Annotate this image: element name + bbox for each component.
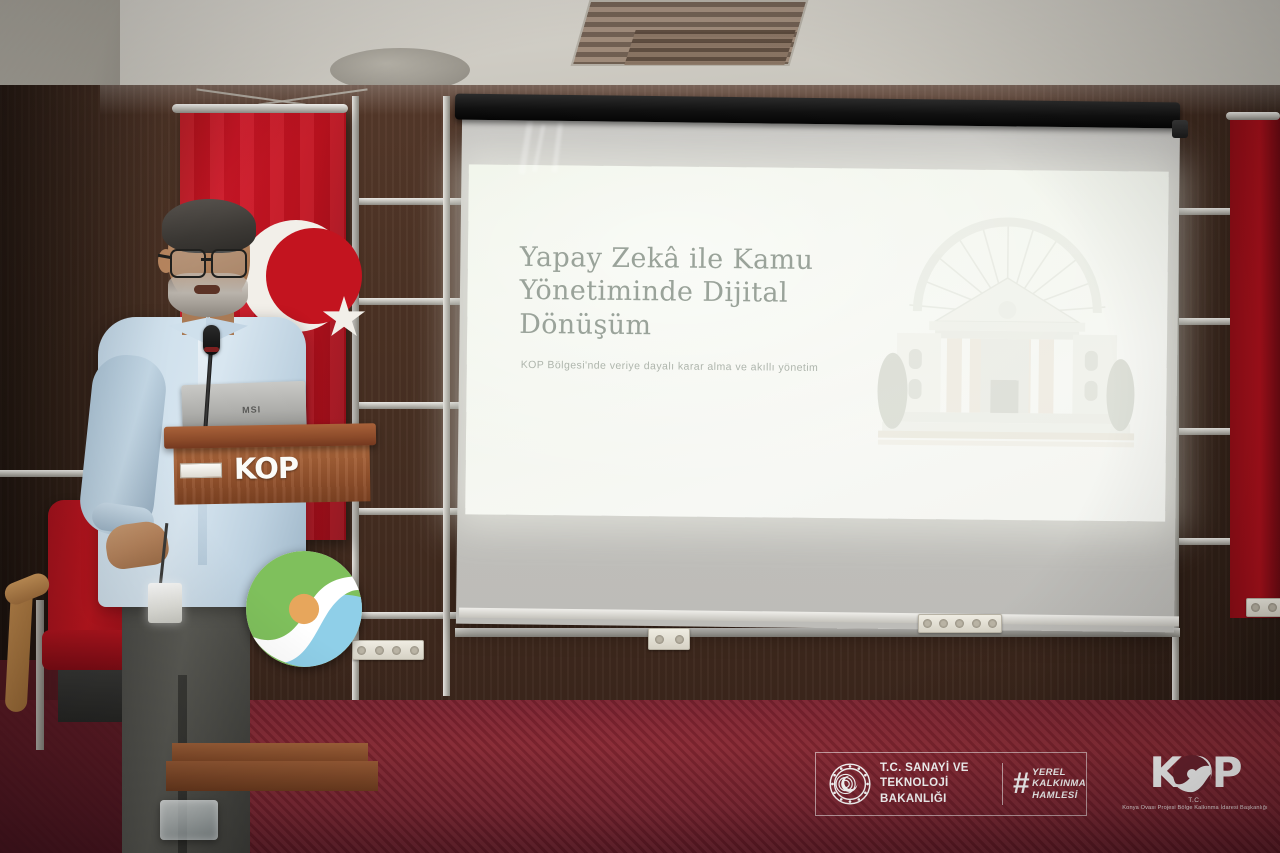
socket-icon [988,619,997,628]
wall-trim-vertical [443,96,450,696]
kop-tc-label: T.C. [1120,797,1270,804]
socket-icon [410,646,419,655]
podium-asset-label [180,463,222,479]
flag-rod-right [1226,112,1280,120]
socket-icon [972,619,981,628]
glasses-lens-right [211,249,247,278]
mouth [194,285,220,294]
kop-swirl-icon [1172,754,1212,794]
socket-icon [1268,603,1277,612]
podium-desktop [164,423,376,449]
screen-roller-end-cap [1172,120,1188,138]
socket-icon [375,646,384,655]
socket-icon [1251,603,1260,612]
projected-slide: Yapay Zekâ ile Kamu Yönetiminde Dijital … [465,164,1169,521]
turkish-flag-right [1230,118,1280,618]
podium-kop-logo: KOP [234,450,331,488]
microphone-ring [204,347,219,352]
socket-icon [923,619,932,628]
campaign-logo: # YEREL KALKINMA HAMLESİ [1012,767,1086,801]
kop-subtitle: Konya Ovası Projesi Bölge Kalkınma İdare… [1120,805,1270,811]
ministry-name: T.C. SANAYİ VE TEKNOLOJİ BAKANLIĞI [880,761,992,808]
wall-socket-panel[interactable] [1246,598,1280,617]
projection-screen: Yapay Zekâ ile Kamu Yönetiminde Dijital … [455,98,1180,628]
wall-socket-panel[interactable] [648,628,690,650]
laptop-brand-label: MSI [242,404,261,415]
beard [168,273,248,317]
podium: KOP [168,425,373,810]
campaign-line-3: HAMLESİ [1032,790,1086,801]
photo-scene: Yapay Zekâ ile Kamu Yönetiminde Dijital … [0,0,1280,853]
podium-column [198,501,350,756]
socket-icon [392,646,401,655]
ministry-line-2: TEKNOLOJİ BAKANLIĞI [880,776,992,807]
hashtag-icon: # [1012,769,1029,799]
hvac-vent-inner [624,30,795,65]
socket-icon [675,635,684,644]
kop-logo-block: KOP T.C. Konya Ovası Projesi Bölge Kalkı… [1120,752,1270,818]
podium-base-lower [166,761,378,791]
hair [162,199,256,253]
glass-object [160,800,218,840]
glasses-icon [170,249,206,278]
kop-emblem-icon [246,551,362,667]
campaign-line-1: YEREL [1032,767,1086,778]
podium-kop-text: KOP [234,451,299,486]
logo-divider [1002,763,1003,805]
chair-frame [36,600,44,750]
flag-rod [172,104,348,113]
socket-icon [955,619,964,628]
glasses-bridge [201,258,212,261]
slide-title: Yapay Zekâ ile Kamu Yönetiminde Dijital … [519,241,900,345]
campaign-words: YEREL KALKINMA HAMLESİ [1032,767,1086,801]
socket-icon [939,619,948,628]
wall-socket-panel[interactable] [918,614,1002,633]
ministry-seal-icon [828,762,872,806]
government-building-illustration [871,193,1142,496]
socket-icon [655,635,664,644]
ministry-line-1: T.C. SANAYİ VE [880,761,992,777]
campaign-line-2: KALKINMA [1032,778,1086,789]
ministry-logo-block: T.C. SANAYİ VE TEKNOLOJİ BAKANLIĞI # YER… [815,752,1087,816]
